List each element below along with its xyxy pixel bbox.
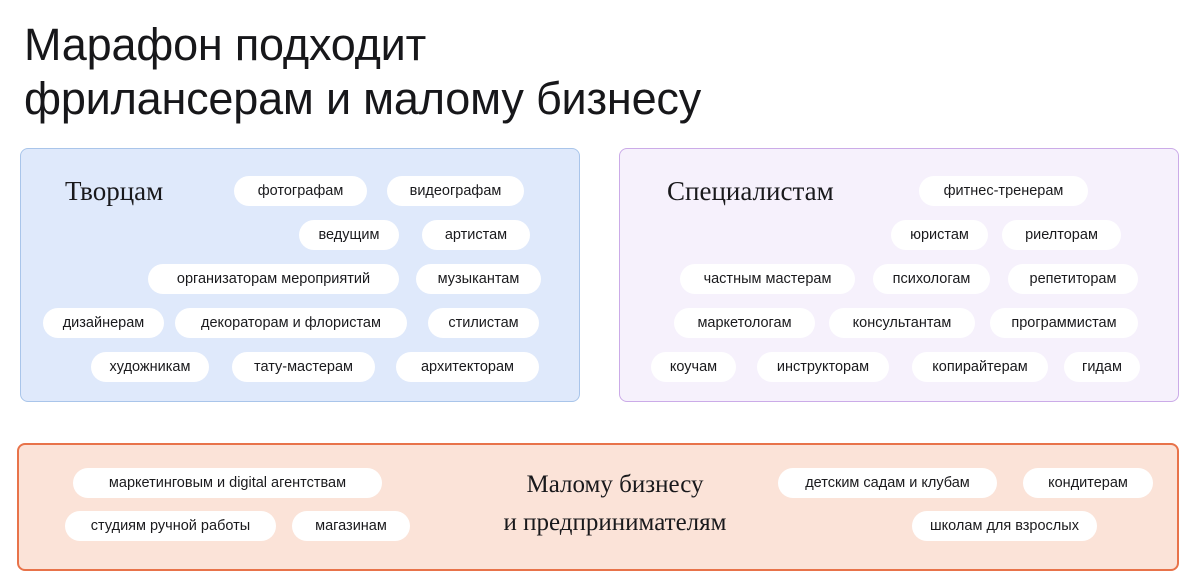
pill-specialists[interactable]: репетиторам — [1008, 264, 1138, 294]
pill-specialists[interactable]: консультантам — [829, 308, 975, 338]
pill-business[interactable]: магазинам — [292, 511, 410, 541]
pill-business[interactable]: маркетинговым и digital агентствам — [73, 468, 382, 498]
pill-creators[interactable]: тату-мастерам — [232, 352, 375, 382]
pill-creators[interactable]: ведущим — [299, 220, 399, 250]
pill-creators[interactable]: организаторам мероприятий — [148, 264, 399, 294]
pill-creators[interactable]: артистам — [422, 220, 530, 250]
card-business-title: Малому бизнесу и предпринимателям — [460, 466, 770, 542]
pill-specialists[interactable]: частным мастерам — [680, 264, 855, 294]
pill-specialists[interactable]: копирайтерам — [912, 352, 1048, 382]
pill-creators[interactable]: музыкантам — [416, 264, 541, 294]
pill-specialists[interactable]: фитнес-тренерам — [919, 176, 1088, 206]
card-specialists-title: Специалистам — [667, 176, 834, 207]
pill-business[interactable]: кондитерам — [1023, 468, 1153, 498]
pill-business[interactable]: школам для взрослых — [912, 511, 1097, 541]
pill-specialists[interactable]: коучам — [651, 352, 736, 382]
pill-creators[interactable]: дизайнерам — [43, 308, 164, 338]
pill-specialists[interactable]: маркетологам — [674, 308, 815, 338]
card-creators-title: Творцам — [65, 176, 163, 207]
pill-specialists[interactable]: инструкторам — [757, 352, 889, 382]
pill-specialists[interactable]: психологам — [873, 264, 990, 294]
pill-specialists[interactable]: юристам — [891, 220, 988, 250]
pill-creators[interactable]: стилистам — [428, 308, 539, 338]
pill-specialists[interactable]: риелторам — [1002, 220, 1121, 250]
pill-business[interactable]: студиям ручной работы — [65, 511, 276, 541]
pill-creators[interactable]: художникам — [91, 352, 209, 382]
pill-creators[interactable]: декораторам и флористам — [175, 308, 407, 338]
pill-creators[interactable]: фотографам — [234, 176, 367, 206]
pill-business[interactable]: детским садам и клубам — [778, 468, 997, 498]
pill-specialists[interactable]: гидам — [1064, 352, 1140, 382]
pill-specialists[interactable]: программистам — [990, 308, 1138, 338]
pill-creators[interactable]: архитекторам — [396, 352, 539, 382]
pill-creators[interactable]: видеографам — [387, 176, 524, 206]
page-title: Марафон подходит фрилансерам и малому би… — [24, 18, 1024, 126]
